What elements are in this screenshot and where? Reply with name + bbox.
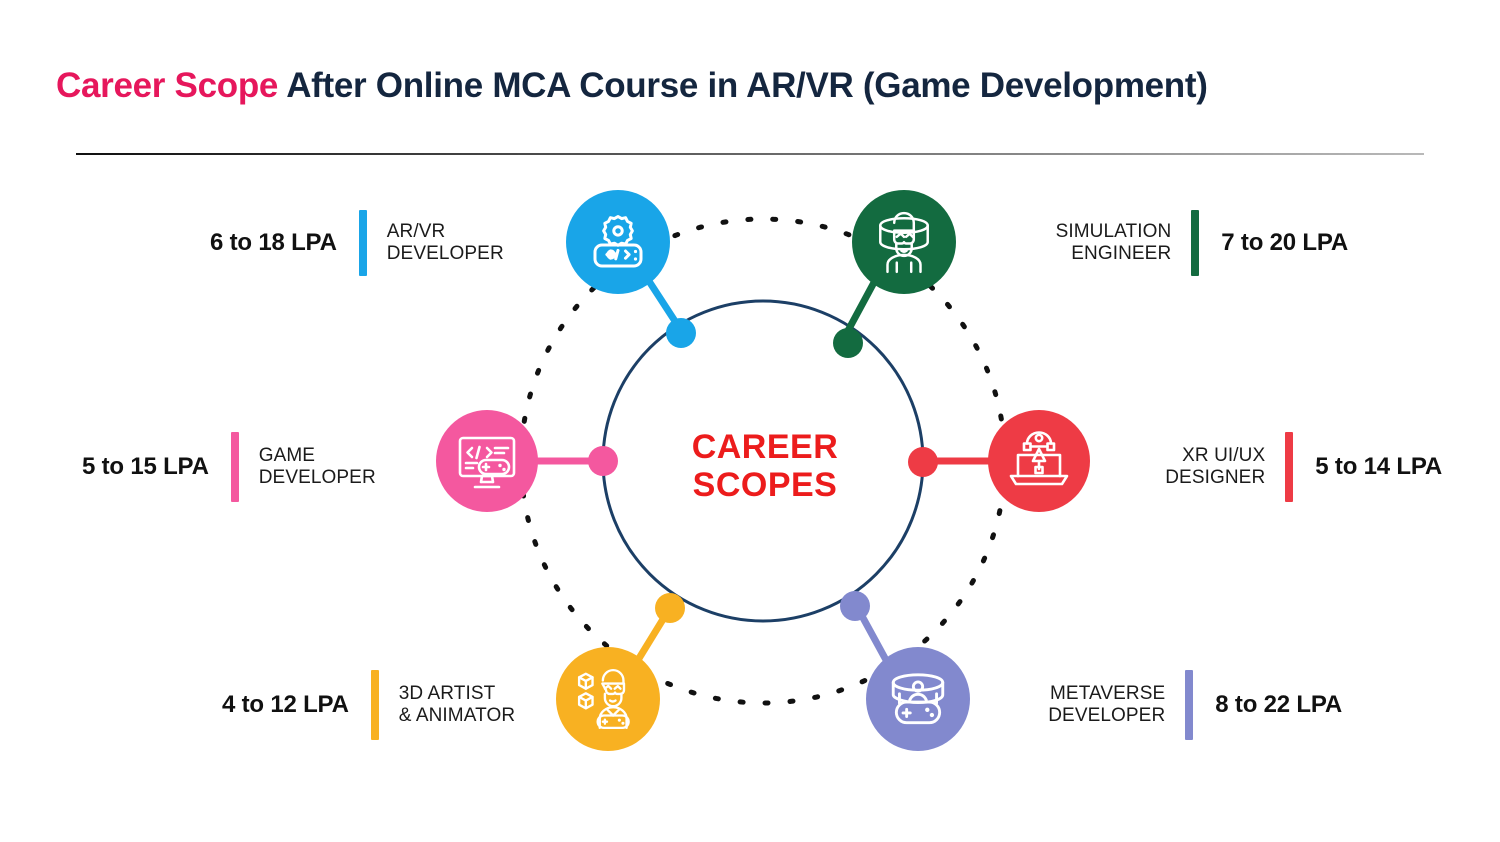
dot-3dartist (655, 593, 685, 623)
role-line1: AR/VR (387, 221, 446, 242)
label-group-xr-ui-ux-designer: XR UI/UX DESIGNER 5 to 14 LPA (1165, 432, 1442, 502)
role-3d-artist-animator: 3D ARTIST & ANIMATOR (399, 683, 515, 728)
node-game-developer[interactable] (436, 410, 538, 512)
center-label-line2: SCOPES (640, 466, 890, 504)
dot-metaverse (840, 591, 870, 621)
role-simulation-engineer: SIMULATION ENGINEER (1056, 221, 1172, 266)
accent-bar-game-developer (231, 432, 239, 502)
accent-bar-metaverse-developer (1185, 670, 1193, 740)
accent-bar-xr-ui-ux-designer (1285, 432, 1293, 502)
role-line2: & ANIMATOR (399, 705, 515, 726)
salary-game-developer: 5 to 15 LPA (82, 453, 209, 481)
salary-xr-ui-ux-designer: 5 to 14 LPA (1315, 453, 1442, 481)
dot-game (588, 446, 618, 476)
vr-headset-code-icon (586, 210, 650, 274)
role-line1: 3D ARTIST (399, 683, 496, 704)
node-ar-vr-developer[interactable] (566, 190, 670, 294)
artist-vr-gamepad-icon (575, 666, 641, 732)
label-group-ar-vr-developer: 6 to 18 LPA AR/VR DEVELOPER (210, 210, 504, 276)
node-simulation-engineer[interactable] (852, 190, 956, 294)
page-title-accent: Career Scope (56, 66, 278, 105)
monitor-gamepad-code-icon (455, 429, 519, 493)
accent-bar-ar-vr-developer (359, 210, 367, 276)
salary-metaverse-developer: 8 to 22 LPA (1215, 691, 1342, 719)
page-title: Career Scope After Online MCA Course in … (56, 66, 1208, 106)
title-divider (76, 153, 1424, 155)
dot-simulation (833, 328, 863, 358)
career-scope-diagram: CAREER SCOPES (0, 160, 1500, 842)
accent-bar-simulation-engineer (1191, 210, 1199, 276)
role-line1: METAVERSE (1050, 683, 1165, 704)
role-game-developer: GAME DEVELOPER (259, 445, 376, 490)
role-line2: DEVELOPER (387, 243, 504, 264)
dot-xrux (908, 447, 938, 477)
laptop-pen-tool-icon (1007, 429, 1071, 493)
node-metaverse-developer[interactable] (866, 647, 970, 751)
dot-arvr (666, 318, 696, 348)
label-group-3d-artist-animator: 4 to 12 LPA 3D ARTIST & ANIMATOR (222, 670, 515, 740)
salary-simulation-engineer: 7 to 20 LPA (1221, 229, 1348, 257)
center-label: CAREER SCOPES (640, 428, 890, 504)
accent-bar-3d-artist-animator (371, 670, 379, 740)
salary-3d-artist-animator: 4 to 12 LPA (222, 691, 349, 719)
role-line2: DEVELOPER (259, 467, 376, 488)
role-line1: GAME (259, 445, 315, 466)
label-group-game-developer: 5 to 15 LPA GAME DEVELOPER (82, 432, 376, 502)
label-group-simulation-engineer: SIMULATION ENGINEER 7 to 20 LPA (1056, 210, 1348, 276)
role-metaverse-developer: METAVERSE DEVELOPER (1048, 683, 1165, 728)
role-line2: DEVELOPER (1048, 705, 1165, 726)
label-group-metaverse-developer: METAVERSE DEVELOPER 8 to 22 LPA (1048, 670, 1342, 740)
role-xr-ui-ux-designer: XR UI/UX DESIGNER (1165, 445, 1265, 490)
page-title-rest: After Online MCA Course in AR/VR (Game D… (278, 66, 1208, 105)
role-ar-vr-developer: AR/VR DEVELOPER (387, 221, 504, 266)
node-xr-ui-ux-designer[interactable] (988, 410, 1090, 512)
center-label-line1: CAREER (640, 428, 890, 466)
node-3d-artist-animator[interactable] (556, 647, 660, 751)
role-line2: DESIGNER (1165, 467, 1265, 488)
role-line2: ENGINEER (1071, 243, 1171, 264)
role-line1: XR UI/UX (1182, 445, 1265, 466)
role-line1: SIMULATION (1056, 221, 1172, 242)
vr-headset-gamepad-icon (885, 666, 951, 732)
salary-ar-vr-developer: 6 to 18 LPA (210, 229, 337, 257)
person-vr-headset-icon (871, 209, 937, 275)
